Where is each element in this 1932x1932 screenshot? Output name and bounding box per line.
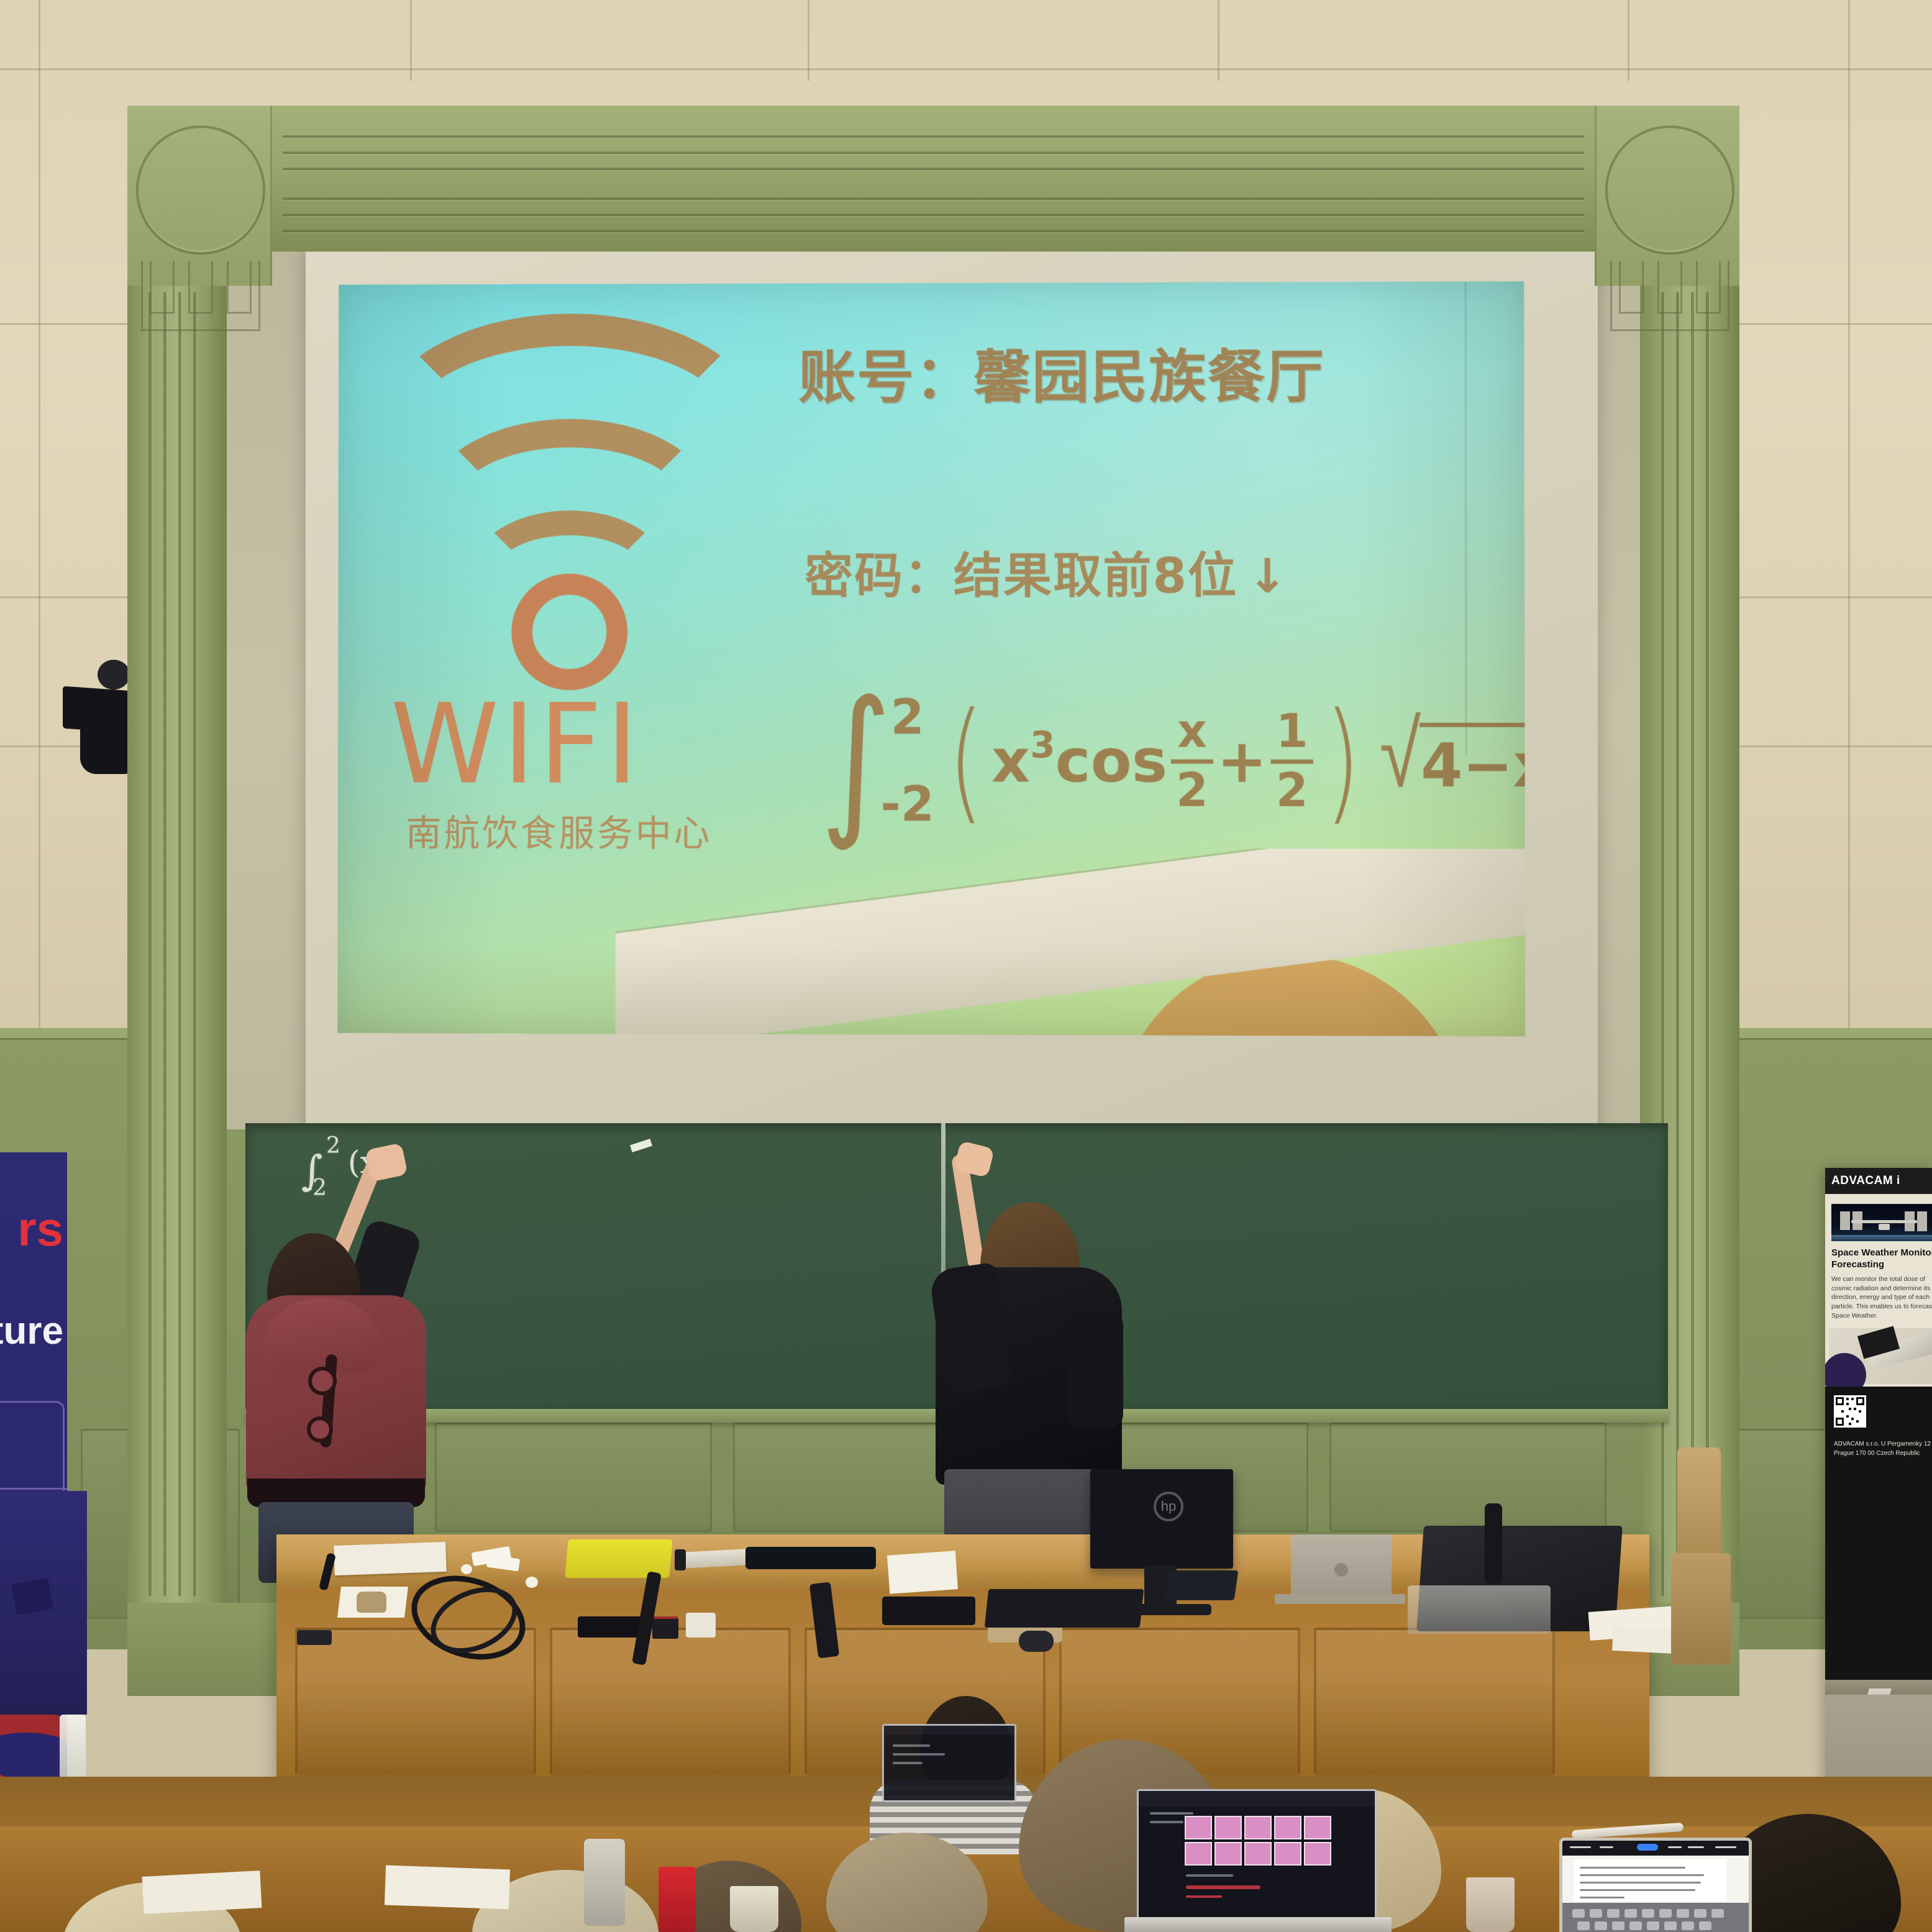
control-panel[interactable] [882,1597,975,1625]
advacam-footer: ADVACAM s.r.o. U Pergamenky 12 Prague 17… [1825,1387,1932,1680]
hp-monitor: hp [1090,1469,1233,1569]
product-photo [1829,1328,1932,1384]
power-switch[interactable] [652,1616,678,1639]
wall-seam [39,0,40,1044]
thermos [584,1839,625,1926]
frame-capital-right [1595,106,1739,286]
wall-seam [1628,0,1629,81]
laptop-base [1275,1594,1405,1604]
chalk-piece [526,1577,538,1588]
advacam-body-text: We can monitor the total dose of cosmic … [1831,1275,1932,1320]
qr-code-icon[interactable] [1834,1395,1866,1428]
mousepad [1166,1570,1239,1600]
banner-left-line1: rs [17,1201,63,1257]
soda-can [658,1867,696,1932]
iss-icon [1840,1216,1927,1229]
water-bottle [60,1715,86,1783]
iss-photo [1831,1204,1932,1241]
gooseneck-microphone[interactable] [1485,1503,1502,1584]
frame-column-left [127,106,227,1696]
advacam-header: ADVACAM i [1825,1168,1932,1194]
wooden-stool-leg [1671,1553,1731,1665]
capital-circle-icon [1605,125,1734,255]
laptop-keyboard-deck[interactable] [1124,1917,1392,1932]
paper-cup [730,1886,778,1932]
remote [297,1630,332,1645]
chalk-lower-limit: -2 [305,1175,327,1201]
laptop-logo-icon [1334,1563,1348,1577]
hoodie-graphic-circle [308,1367,337,1395]
chalk-upper-limit: 2 [326,1133,340,1159]
chalk-stick [630,1139,652,1152]
wall-seam [1218,0,1219,81]
advacam-heading: Space Weather Monitorin & Forecasting [1831,1247,1932,1271]
advacam-address: ADVACAM s.r.o. U Pergamenky 12 Prague 17… [1834,1440,1932,1458]
leaflet [11,1578,53,1615]
banner-right-advacam: ADVACAM i Space Weather Monitorin & Fore… [1825,1168,1932,1789]
capital-teeth [1610,261,1729,331]
audience-laptop-screen[interactable] [882,1724,1016,1802]
paper-sheet [385,1866,510,1910]
tablet-onscreen-keyboard[interactable] [1562,1903,1749,1932]
tablet-toolbar[interactable] [1562,1841,1749,1856]
paper-sheet [334,1542,447,1575]
socket-plate[interactable] [686,1613,716,1638]
chalk-piece [461,1564,472,1574]
banner-left-line2: ture [0,1309,63,1353]
lecture-hall-photo: WIFI 南航饮食服务中心 账号：馨园民族餐厅 密码：结果取前8位↓ ∫ 2 -… [0,0,1932,1932]
desk-panel [1314,1628,1555,1775]
keyboard[interactable] [985,1589,1144,1628]
pink-sample-grid [1185,1816,1331,1866]
plastic-lid [1408,1585,1551,1634]
paper-sheet [887,1551,958,1594]
plastic-cup [1466,1877,1515,1932]
presentation-tablet[interactable] [745,1547,876,1569]
frame-capital-left [127,106,272,286]
audience-laptop-screen[interactable] [1137,1789,1377,1923]
mouse[interactable] [1019,1631,1054,1652]
paper-sheet [142,1870,262,1914]
sponge [357,1592,386,1613]
eraser-handle [675,1549,686,1570]
sleeve [1067,1311,1123,1429]
desk-panel [550,1628,791,1775]
frame-lintel [127,106,1739,252]
hoodie-graphic-circle [307,1416,333,1442]
tablet-document[interactable] [1574,1859,1726,1901]
wall-seam [410,0,412,81]
earth-limb [1831,1235,1932,1241]
power-outlet-panel[interactable] [578,1616,646,1638]
wall-seam [1848,0,1850,1044]
hp-logo-icon: hp [1154,1492,1183,1521]
wall-seam [0,68,1932,70]
capital-circle-icon [136,125,265,255]
audience-tablet[interactable] [1559,1838,1752,1932]
capital-teeth [141,261,260,331]
wall-seam [808,0,809,81]
banner-floor [1825,1695,1932,1789]
laptop-lid [1291,1534,1392,1602]
wooden-stool [1677,1447,1721,1565]
